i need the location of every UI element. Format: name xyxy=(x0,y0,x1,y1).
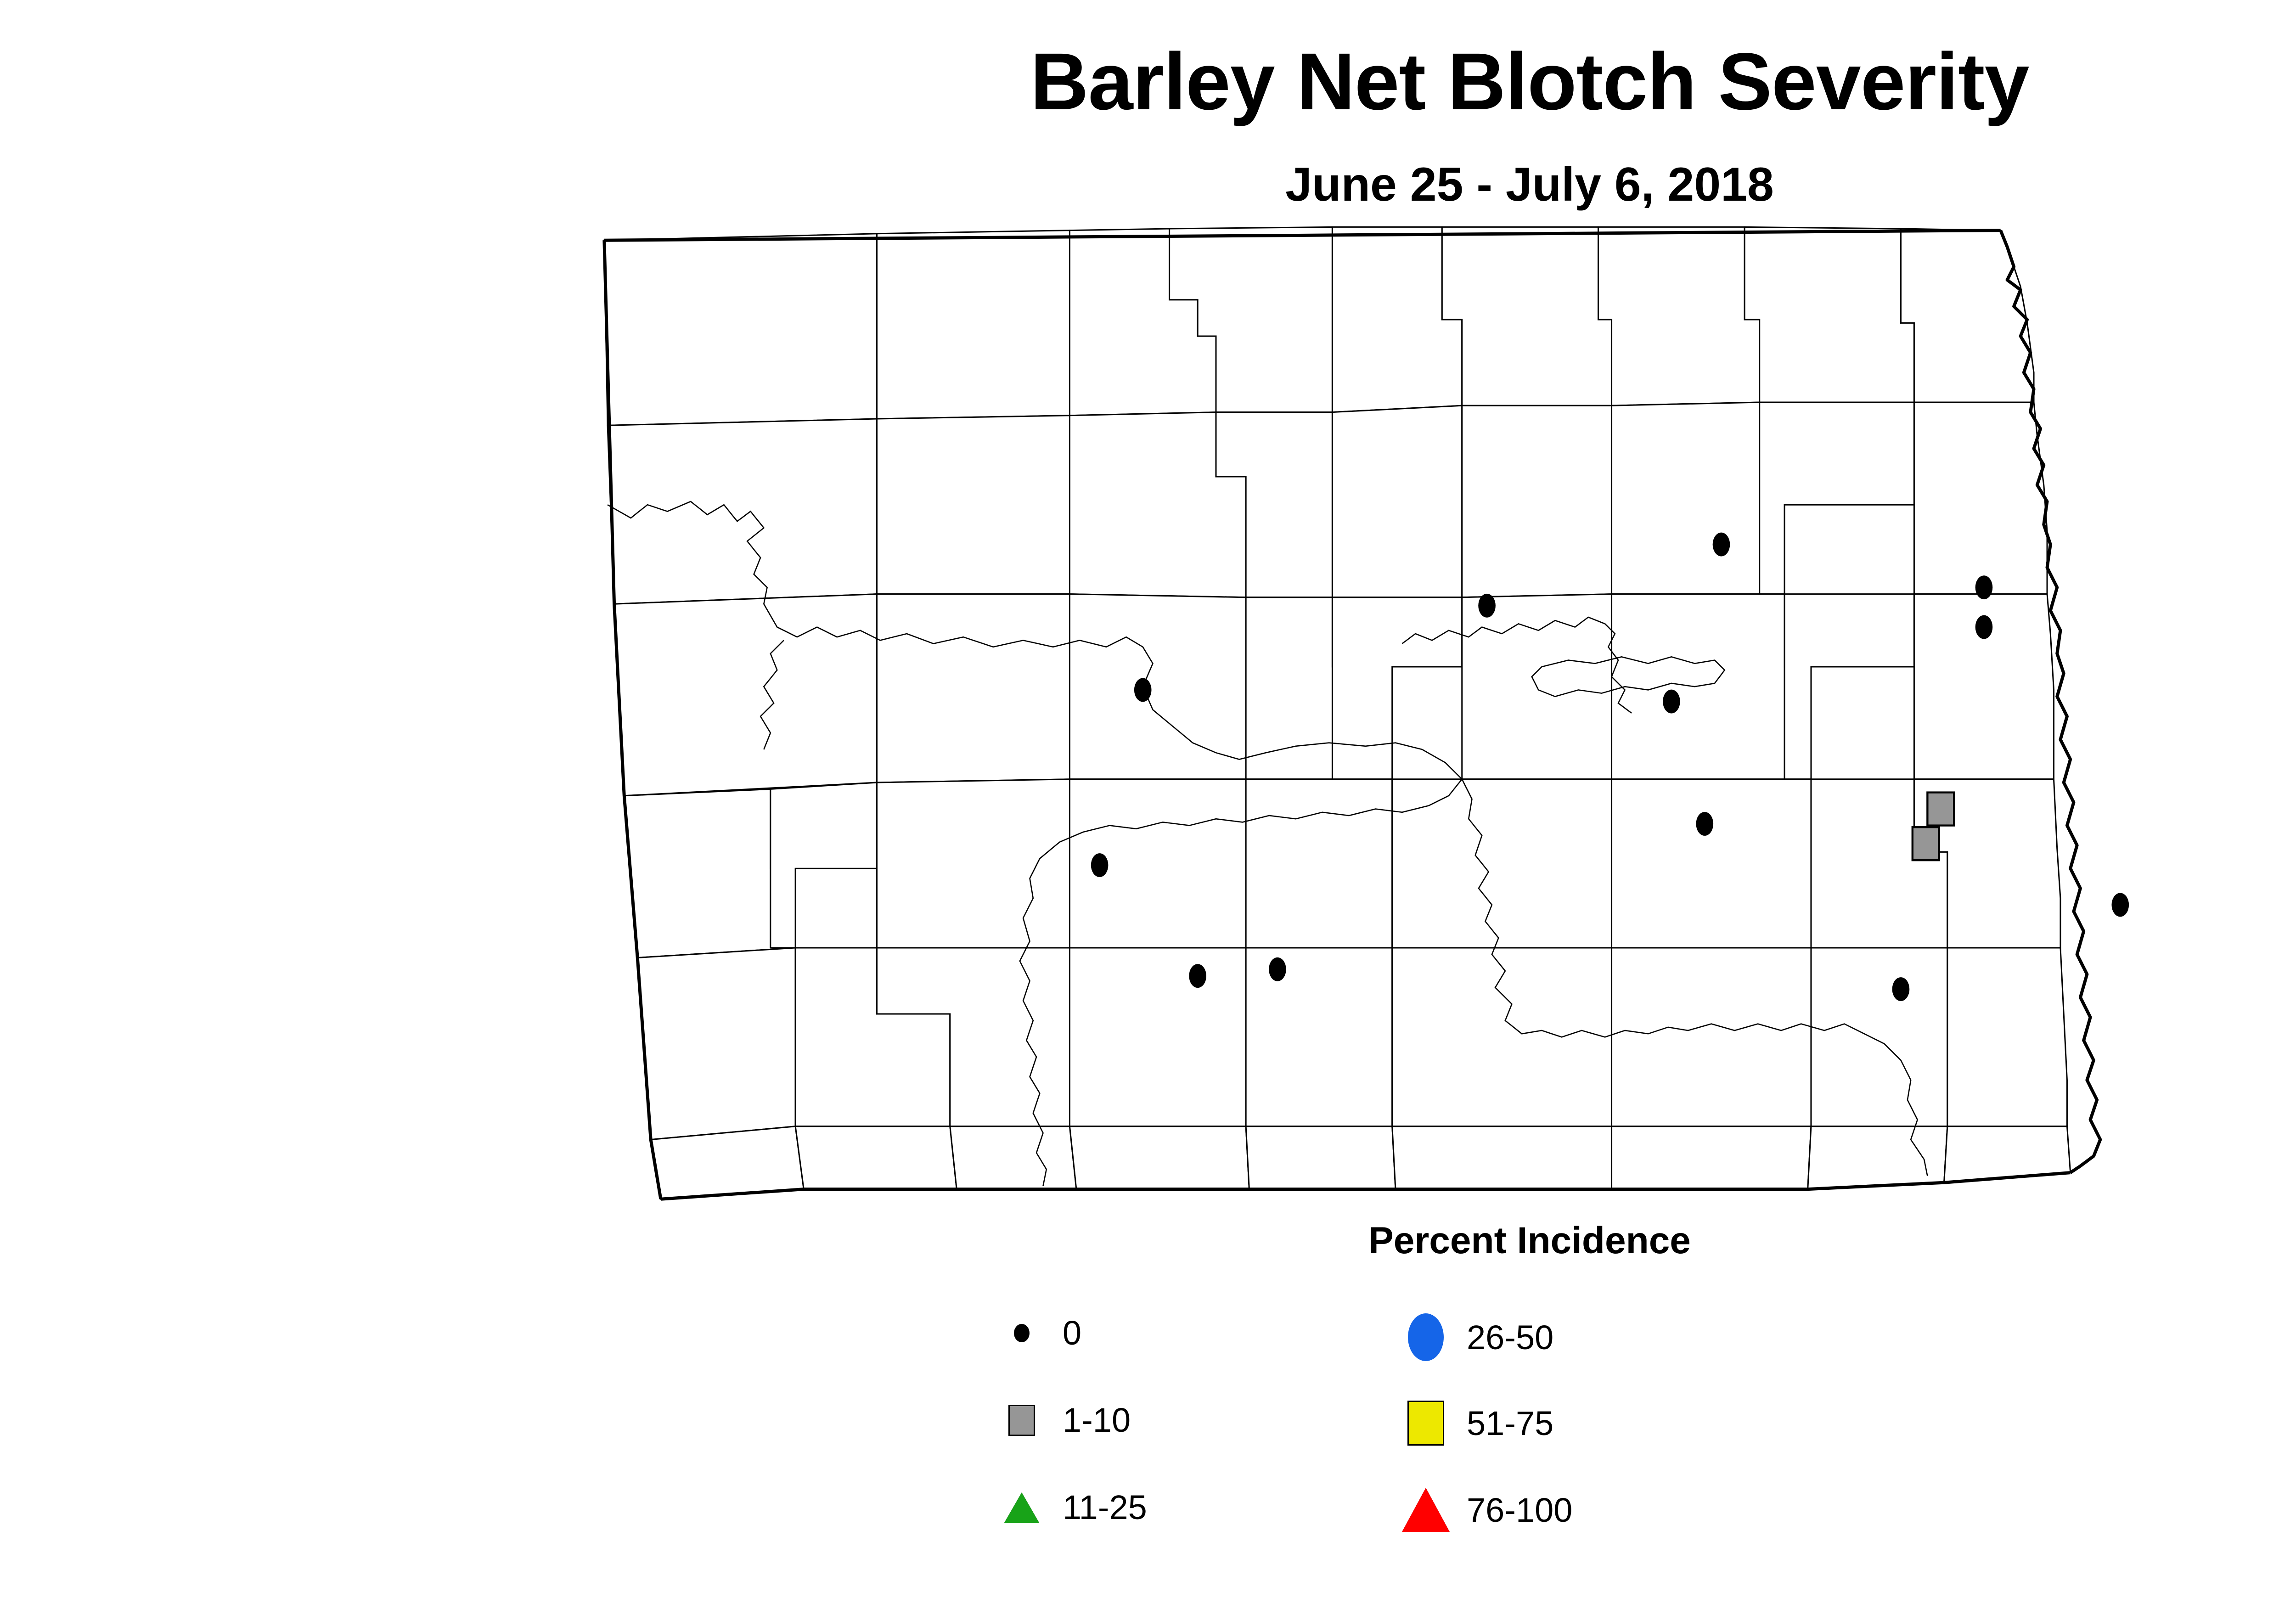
legend-heading: Percent Incidence xyxy=(0,1219,2296,1262)
legend-symbol-square-icon xyxy=(1405,1401,1446,1446)
page-subtitle: June 25 - July 6, 2018 xyxy=(0,161,2296,208)
legend-symbol-circle-icon xyxy=(1001,1324,1042,1342)
legend-label: 76-100 xyxy=(1467,1491,1572,1530)
legend-symbol-circle-icon xyxy=(1405,1313,1446,1361)
map-marker-1-10[interactable] xyxy=(1927,793,1954,826)
map-marker-0[interactable] xyxy=(1975,575,1993,599)
map-marker-0[interactable] xyxy=(1134,678,1152,702)
map-marker-0[interactable] xyxy=(1696,812,1713,836)
map-marker-0[interactable] xyxy=(1189,964,1206,988)
map-marker-0[interactable] xyxy=(1892,977,1910,1001)
legend: 01-1011-2526-5051-7576-100 xyxy=(1001,1313,1828,1571)
legend-label: 11-25 xyxy=(1063,1488,1147,1527)
map-figure: Barley Net Blotch Severity June 25 - Jul… xyxy=(0,0,2296,1610)
legend-item-1-10[interactable]: 1-10 xyxy=(1001,1401,1131,1440)
legend-symbol-triangle-icon xyxy=(1405,1488,1446,1532)
page-title: Barley Net Blotch Severity xyxy=(0,41,2296,122)
map-marker-0[interactable] xyxy=(1713,533,1730,557)
legend-item-26-50[interactable]: 26-50 xyxy=(1405,1313,1553,1361)
map-svg xyxy=(551,220,2213,1212)
county-layer xyxy=(604,227,2071,1199)
map-marker-0[interactable] xyxy=(1975,615,1993,639)
map-marker-1-10[interactable] xyxy=(1913,827,1939,860)
north-dakota-county-map xyxy=(551,220,2213,1212)
legend-item-76-100[interactable]: 76-100 xyxy=(1405,1488,1572,1532)
map-marker-0[interactable] xyxy=(1663,690,1680,714)
legend-label: 0 xyxy=(1063,1313,1081,1352)
legend-symbol-triangle-icon xyxy=(1001,1492,1042,1523)
legend-label: 51-75 xyxy=(1467,1404,1553,1443)
map-marker-0[interactable] xyxy=(2111,893,2129,917)
legend-label: 26-50 xyxy=(1467,1318,1553,1357)
legend-item-0[interactable]: 0 xyxy=(1001,1313,1081,1352)
legend-symbol-square-icon xyxy=(1001,1405,1042,1436)
legend-item-51-75[interactable]: 51-75 xyxy=(1405,1401,1553,1446)
map-marker-0[interactable] xyxy=(1269,957,1286,981)
legend-item-11-25[interactable]: 11-25 xyxy=(1001,1488,1147,1527)
map-marker-0[interactable] xyxy=(1478,594,1496,618)
legend-label: 1-10 xyxy=(1063,1401,1131,1440)
map-marker-0[interactable] xyxy=(1091,853,1109,877)
